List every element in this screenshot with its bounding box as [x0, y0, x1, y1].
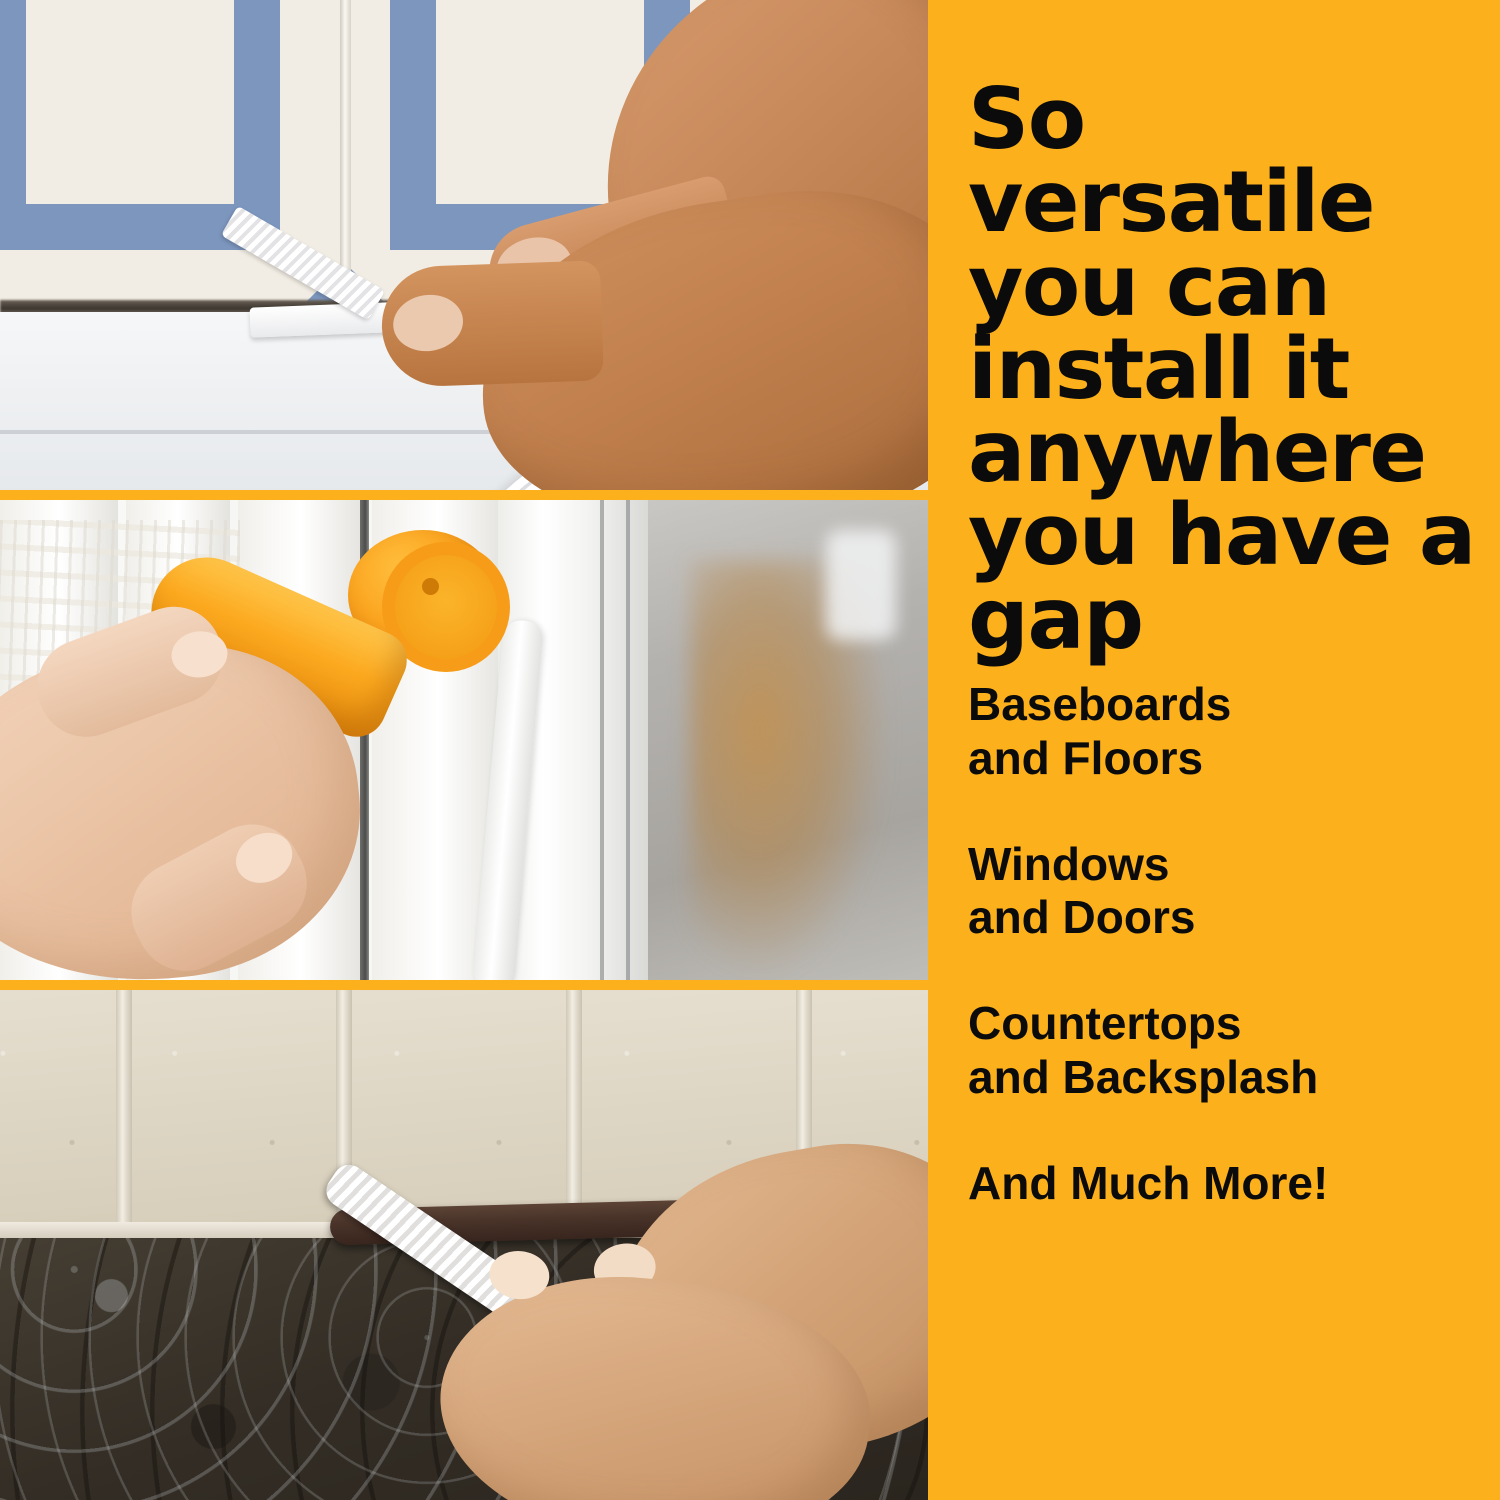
jamb-edge	[600, 500, 604, 980]
benefit-item-windows: Windows and Doors	[968, 838, 1488, 946]
benefit-item-and-much-more: And Much More!	[968, 1157, 1488, 1211]
photo-tile-backsplash-install	[0, 0, 928, 490]
benefit-item-countertops: Countertops and Backsplash	[968, 997, 1488, 1105]
photo-window-frame-install	[0, 500, 928, 980]
beige-tile	[128, 990, 340, 1242]
jamb-edge	[626, 500, 630, 980]
benefit-item-baseboards: Baseboards and Floors	[968, 678, 1488, 786]
applicator-tool-hole	[422, 578, 439, 595]
glass-highlight	[826, 530, 896, 640]
photo-column	[0, 0, 928, 1500]
tile-a	[0, 0, 340, 330]
grout-line	[116, 990, 132, 1242]
photo-countertop-backsplash-install	[0, 990, 928, 1500]
beige-tile	[0, 990, 120, 1242]
photo-divider	[0, 490, 928, 500]
benefit-list: Baseboards and Floors Windows and Doors …	[968, 678, 1488, 1211]
text-panel: So versatile you can install it anywhere…	[928, 0, 1500, 1500]
photo-divider	[0, 980, 928, 990]
product-feature-graphic: So versatile you can install it anywhere…	[0, 0, 1500, 1500]
headline: So versatile you can install it anywhere…	[968, 78, 1488, 661]
